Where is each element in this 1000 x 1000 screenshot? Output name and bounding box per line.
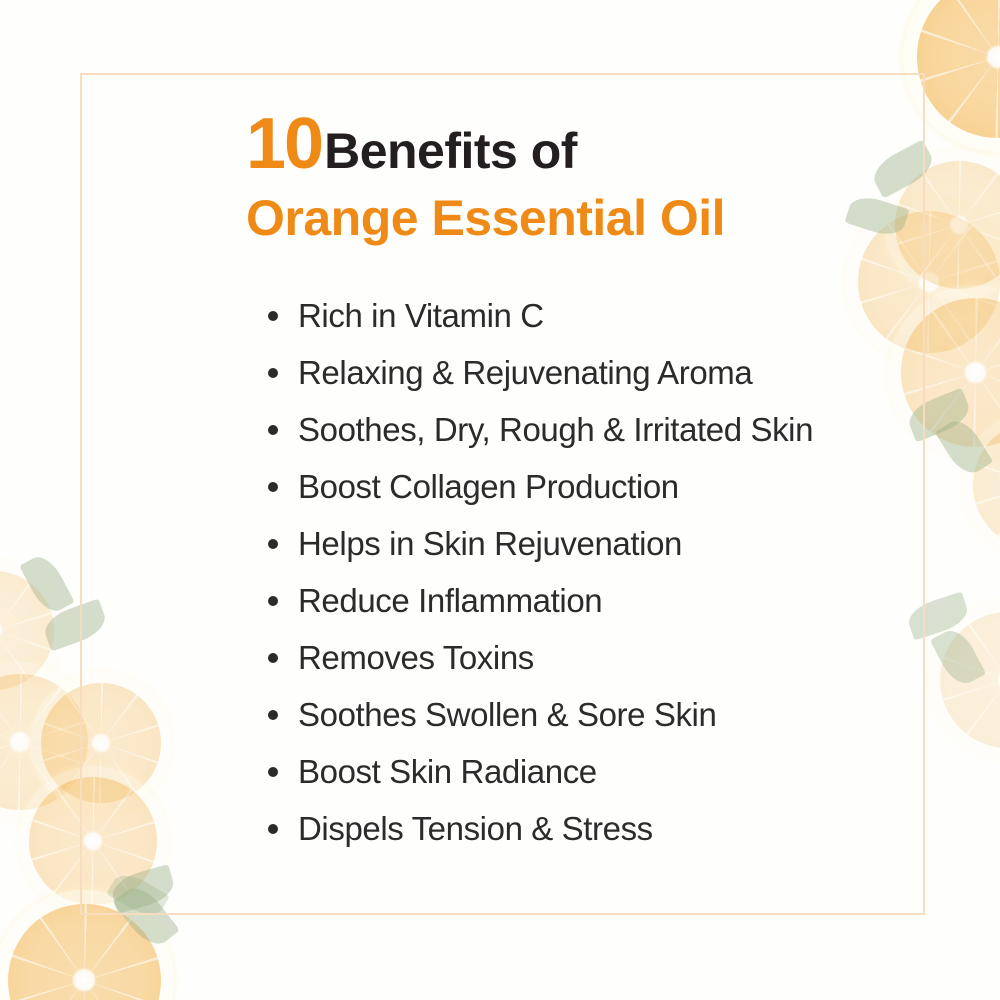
- bullet-dot-icon: [268, 539, 278, 549]
- benefit-label: Removes Toxins: [298, 639, 534, 676]
- benefit-label: Relaxing & Rejuvenating Aroma: [298, 354, 752, 391]
- list-item: Soothes, Dry, Rough & Irritated Skin: [268, 411, 813, 468]
- title-benefits-of: Benefits of: [324, 126, 577, 176]
- infographic-poster: 10 Benefits of Orange Essential Oil Rich…: [0, 0, 1000, 1000]
- list-item: Soothes Swollen & Sore Skin: [268, 696, 813, 753]
- list-item: Reduce Inflammation: [268, 582, 813, 639]
- list-item: Removes Toxins: [268, 639, 813, 696]
- list-item: Boost Skin Radiance: [268, 753, 813, 810]
- bullet-dot-icon: [268, 311, 278, 321]
- bullet-dot-icon: [268, 653, 278, 663]
- benefit-label: Soothes, Dry, Rough & Irritated Skin: [298, 411, 813, 448]
- benefit-label: Reduce Inflammation: [298, 582, 602, 619]
- benefit-label: Dispels Tension & Stress: [298, 810, 653, 847]
- bullet-dot-icon: [268, 425, 278, 435]
- bullet-dot-icon: [268, 767, 278, 777]
- bullet-dot-icon: [268, 596, 278, 606]
- bullet-dot-icon: [268, 710, 278, 720]
- list-item: Helps in Skin Rejuvenation: [268, 525, 813, 582]
- list-item: Relaxing & Rejuvenating Aroma: [268, 354, 813, 411]
- page-title: 10 Benefits of Orange Essential Oil: [246, 108, 886, 245]
- list-item: Boost Collagen Production: [268, 468, 813, 525]
- list-item: Rich in Vitamin C: [268, 297, 813, 354]
- benefits-count: 10: [246, 108, 322, 180]
- list-item: Dispels Tension & Stress: [268, 810, 813, 867]
- benefit-label: Rich in Vitamin C: [298, 297, 544, 334]
- benefits-list: Rich in Vitamin CRelaxing & Rejuvenating…: [268, 297, 813, 867]
- title-line-one: 10 Benefits of: [246, 108, 886, 180]
- benefit-label: Boost Skin Radiance: [298, 753, 597, 790]
- bullet-dot-icon: [268, 482, 278, 492]
- benefit-label: Helps in Skin Rejuvenation: [298, 525, 682, 562]
- bullet-dot-icon: [268, 368, 278, 378]
- benefit-label: Boost Collagen Production: [298, 468, 679, 505]
- title-subject: Orange Essential Oil: [246, 192, 886, 245]
- poster-content: 10 Benefits of Orange Essential Oil Rich…: [0, 0, 1000, 1000]
- benefit-label: Soothes Swollen & Sore Skin: [298, 696, 716, 733]
- bullet-dot-icon: [268, 824, 278, 834]
